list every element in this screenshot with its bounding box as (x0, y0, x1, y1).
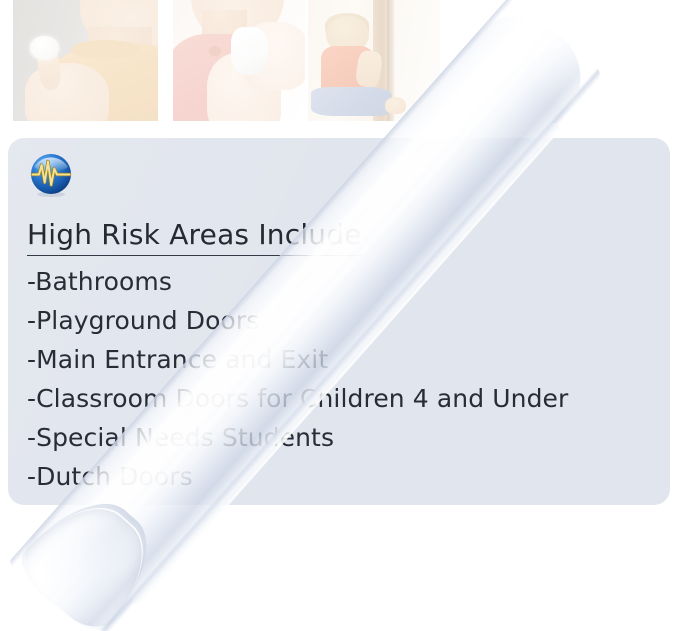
photo-child-bandaged-finger (13, 0, 158, 121)
panel-content: High Risk Areas Include -Bathrooms -Play… (27, 216, 660, 496)
high-risk-areas-panel: High Risk Areas Include -Bathrooms -Play… (8, 138, 670, 505)
high-risk-areas-list: -Bathrooms -Playground Doors -Main Entra… (27, 262, 660, 496)
list-item: -Dutch Doors (27, 457, 660, 496)
list-item: -Main Entrance and Exit (27, 340, 660, 379)
photo-gauze-wrapped-hand (173, 0, 305, 121)
list-item: -Classroom Doors for Children 4 and Unde… (27, 379, 660, 418)
list-item: -Bathrooms (27, 262, 660, 301)
list-item: -Special Needs Students (27, 418, 660, 457)
list-item: -Playground Doors (27, 301, 660, 340)
product-use-photos (0, 0, 679, 124)
page-title: High Risk Areas Include (27, 216, 362, 256)
screenshot-root: High Risk Areas Include -Bathrooms -Play… (0, 0, 679, 631)
waveform-globe-icon (28, 152, 74, 198)
photo-toddler-at-door (308, 0, 440, 121)
